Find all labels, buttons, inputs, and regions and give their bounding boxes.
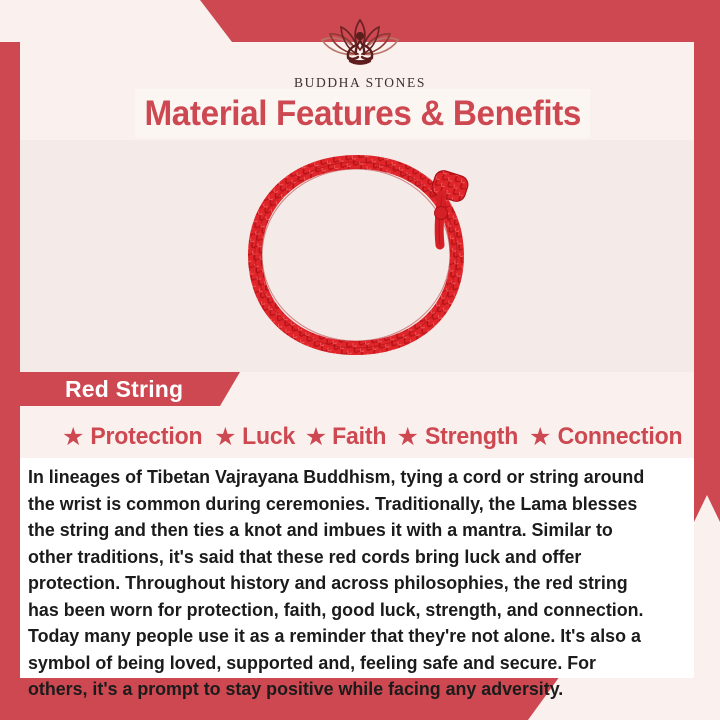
star-icon: ★ xyxy=(529,425,551,450)
feature-label: Connection xyxy=(558,423,683,451)
red-string-bracelet-image xyxy=(228,145,486,367)
product-label: Red String xyxy=(65,376,183,403)
brand-logo: BUDDHA STONES xyxy=(0,14,720,91)
feature-label: Faith xyxy=(332,423,386,451)
infographic-page: BUDDHA STONES Material Features & Benefi… xyxy=(0,0,720,720)
feature-list: ★ Protection ★ Luck ★ Faith ★ Strength ★… xyxy=(20,418,710,456)
star-icon: ★ xyxy=(214,425,236,450)
star-icon: ★ xyxy=(397,425,419,450)
product-photo-area xyxy=(20,140,694,372)
feature-label: Luck xyxy=(242,423,295,451)
title-banner: Material Features & Benefits xyxy=(135,89,590,138)
feature-item: ★ Strength xyxy=(397,423,520,451)
feature-label: Strength xyxy=(425,423,518,451)
feature-label: Protection xyxy=(91,423,203,451)
star-icon: ★ xyxy=(305,425,327,450)
product-label-tab: Red String xyxy=(20,372,240,406)
feature-item: ★ Protection xyxy=(62,423,205,451)
feature-item: ★ Faith xyxy=(305,423,388,451)
description-text: In lineages of Tibetan Vajrayana Buddhis… xyxy=(28,464,657,703)
feature-item: ★ Connection xyxy=(529,423,685,451)
feature-item: ★ Luck xyxy=(214,423,296,451)
left-red-bar xyxy=(0,42,20,720)
lotus-meditation-icon xyxy=(312,14,408,74)
page-title: Material Features & Benefits xyxy=(144,94,581,134)
star-icon: ★ xyxy=(62,425,84,450)
description-card: In lineages of Tibetan Vajrayana Buddhis… xyxy=(20,458,694,678)
